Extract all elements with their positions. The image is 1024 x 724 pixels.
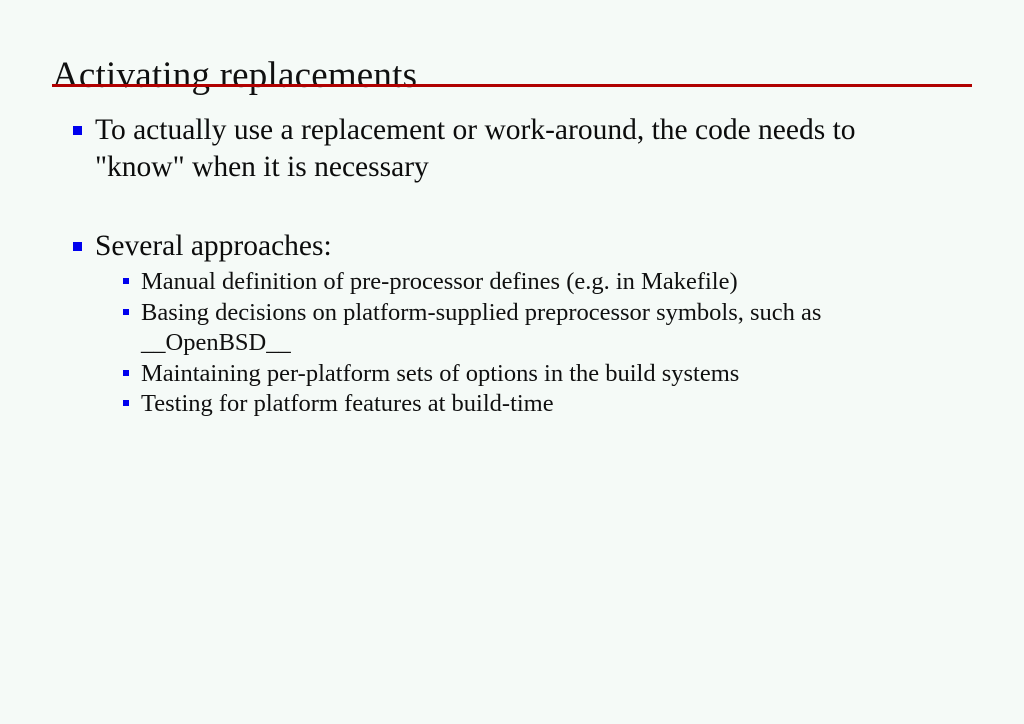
bullet-item-level2: Maintaining per-platform sets of options… [0, 359, 1024, 390]
bullet-item-level2: Testing for platform features at build-t… [0, 389, 1024, 420]
small-square-bullet-icon [123, 400, 129, 406]
small-square-bullet-icon [123, 370, 129, 376]
small-square-bullet-icon [123, 309, 129, 315]
slide-body: To actually use a replacement or work-ar… [0, 112, 1024, 420]
bullet-item-level2-label: Maintaining per-platform sets of options… [141, 359, 854, 390]
page-title: Activating replacements [52, 54, 972, 98]
bullet-item-level2-label: Manual definition of pre-processor defin… [141, 267, 854, 298]
square-bullet-icon [73, 126, 82, 135]
bullet-item-level2: Basing decisions on platform-supplied pr… [0, 298, 1024, 359]
bullet-item-level2: Manual definition of pre-processor defin… [0, 267, 1024, 298]
sub-bullet-list: Manual definition of pre-processor defin… [0, 267, 1024, 420]
square-bullet-icon [73, 242, 82, 251]
bullet-item-level1: To actually use a replacement or work-ar… [0, 112, 1024, 186]
bullet-item-level2-label: Testing for platform features at build-t… [141, 389, 854, 420]
bullet-item-level1: Several approaches: [0, 228, 1024, 265]
presentation-slide: Activating replacements To actually use … [0, 0, 1024, 724]
small-square-bullet-icon [123, 278, 129, 284]
bullet-group-spacer [0, 186, 1024, 228]
title-underline-rule [52, 84, 972, 87]
bullet-item-level1-label: To actually use a replacement or work-ar… [95, 112, 894, 186]
bullet-item-level1-label: Several approaches: [95, 228, 894, 265]
bullet-item-level2-label: Basing decisions on platform-supplied pr… [141, 298, 854, 359]
